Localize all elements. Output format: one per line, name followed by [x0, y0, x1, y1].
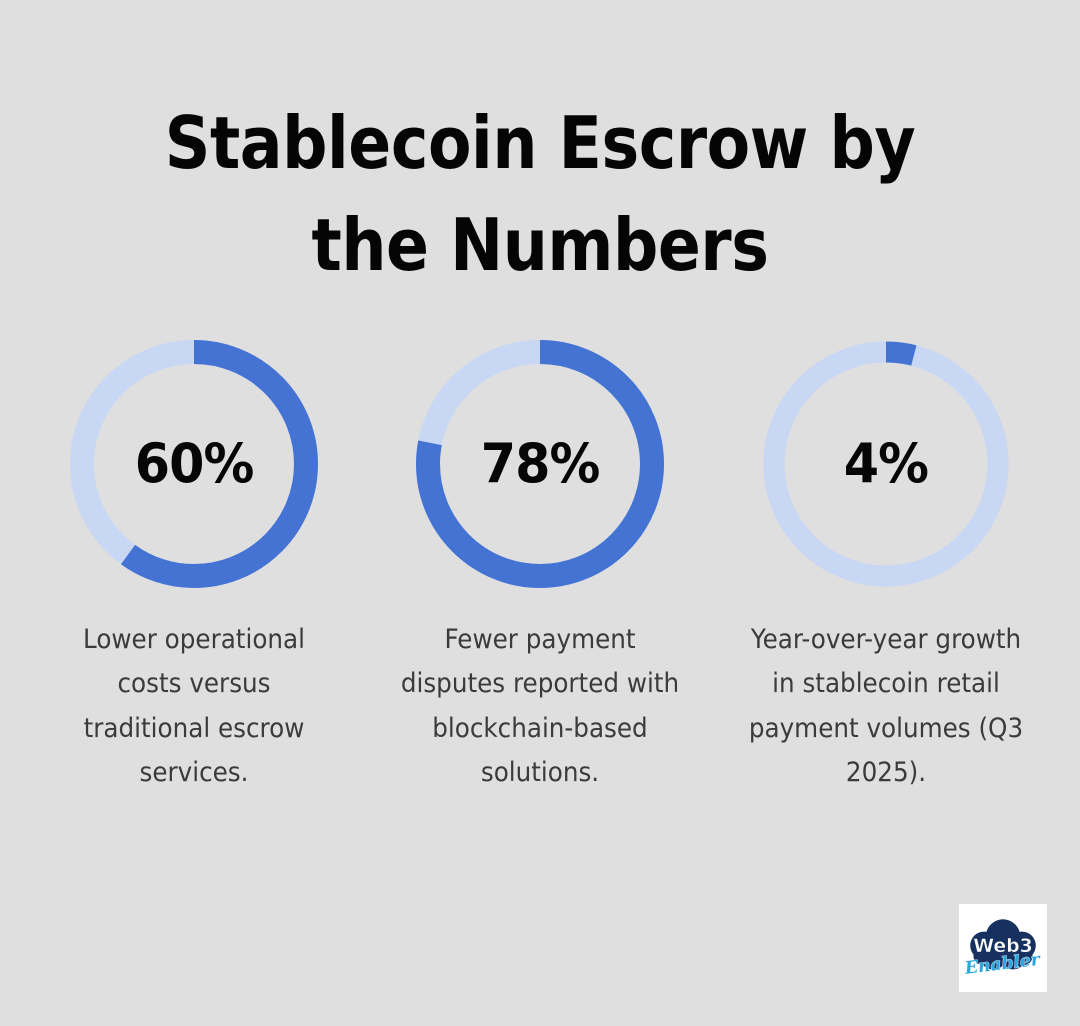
stats-row: 60% Lower operational costs versus tradi…: [0, 340, 1080, 795]
donut-chart-3: 4%: [762, 340, 1010, 588]
stat-caption-1: Lower operational costs versus tradition…: [55, 618, 334, 795]
stat-caption-2: Fewer payment disputes reported with blo…: [401, 618, 680, 795]
donut-chart-2: 78%: [416, 340, 664, 588]
title-block: Stablecoin Escrow by the Numbers: [60, 92, 1020, 296]
donut-value-1: 60%: [135, 437, 254, 491]
donut-value-3: 4%: [844, 437, 928, 491]
stat-card-2: 78% Fewer payment disputes reported with…: [367, 340, 713, 795]
page-title: Stablecoin Escrow by the Numbers: [118, 92, 963, 296]
infographic-canvas: Stablecoin Escrow by the Numbers 60% Low…: [0, 0, 1080, 1026]
brand-logo: Web3 Enabler: [959, 904, 1047, 992]
donut-chart-1: 60%: [70, 340, 318, 588]
donut-value-2: 78%: [481, 437, 600, 491]
stat-card-1: 60% Lower operational costs versus tradi…: [21, 340, 367, 795]
stat-caption-3: Year-over-year growth in stablecoin reta…: [747, 618, 1026, 795]
web3-enabler-cloud-icon: Web3 Enabler: [962, 907, 1044, 989]
stat-card-3: 4% Year-over-year growth in stablecoin r…: [713, 340, 1059, 795]
